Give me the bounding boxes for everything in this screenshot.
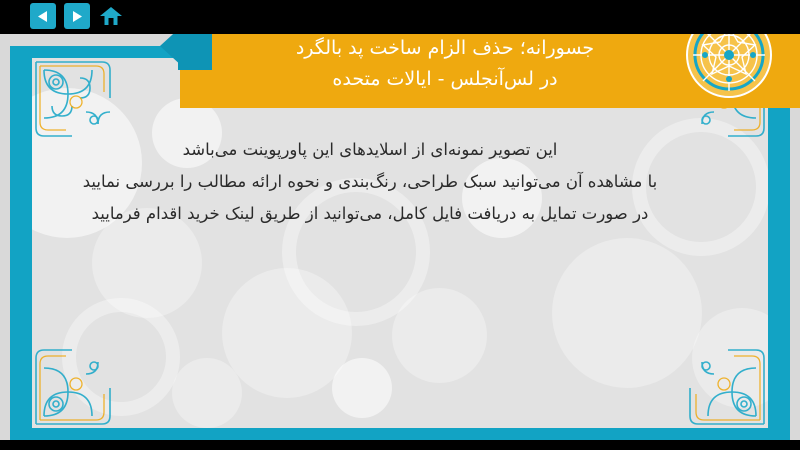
home-icon bbox=[99, 5, 123, 27]
bokeh-circle bbox=[222, 268, 352, 398]
top-navigation-bar bbox=[0, 0, 800, 34]
slide-body-text: این تصویر نمونه‌ای از اسلایدهای این پاور… bbox=[40, 134, 700, 230]
triangle-left-icon bbox=[37, 10, 49, 23]
slide-title-line-3: در لس‌آنجلس - ایالات متحده bbox=[210, 64, 680, 95]
slide-content-panel bbox=[32, 58, 768, 428]
slide-title-line-2: جسورانه؛ حذف الزام ساخت پد بالگرد bbox=[210, 33, 680, 64]
corner-ornament-icon bbox=[32, 332, 128, 428]
triangle-right-icon bbox=[71, 10, 83, 23]
bokeh-circle bbox=[172, 358, 242, 428]
presentation-slide: بررسی طراحی معماری شهری جسورانه؛ حذف الز… bbox=[0, 0, 800, 450]
body-line-3: در صورت تمایل به دریافت فایل کامل، می‌تو… bbox=[40, 198, 700, 230]
home-button[interactable] bbox=[98, 3, 124, 29]
bottom-bar bbox=[0, 440, 800, 450]
next-slide-button[interactable] bbox=[64, 3, 90, 29]
body-line-2: با مشاهده آن می‌توانید سبک طراحی، رنگ‌بن… bbox=[40, 166, 700, 198]
body-line-1: این تصویر نمونه‌ای از اسلایدهای این پاور… bbox=[40, 134, 700, 166]
prev-slide-button[interactable] bbox=[30, 3, 56, 29]
bokeh-circle bbox=[392, 288, 487, 383]
bokeh-circle bbox=[332, 358, 392, 418]
corner-ornament-icon bbox=[672, 332, 768, 428]
